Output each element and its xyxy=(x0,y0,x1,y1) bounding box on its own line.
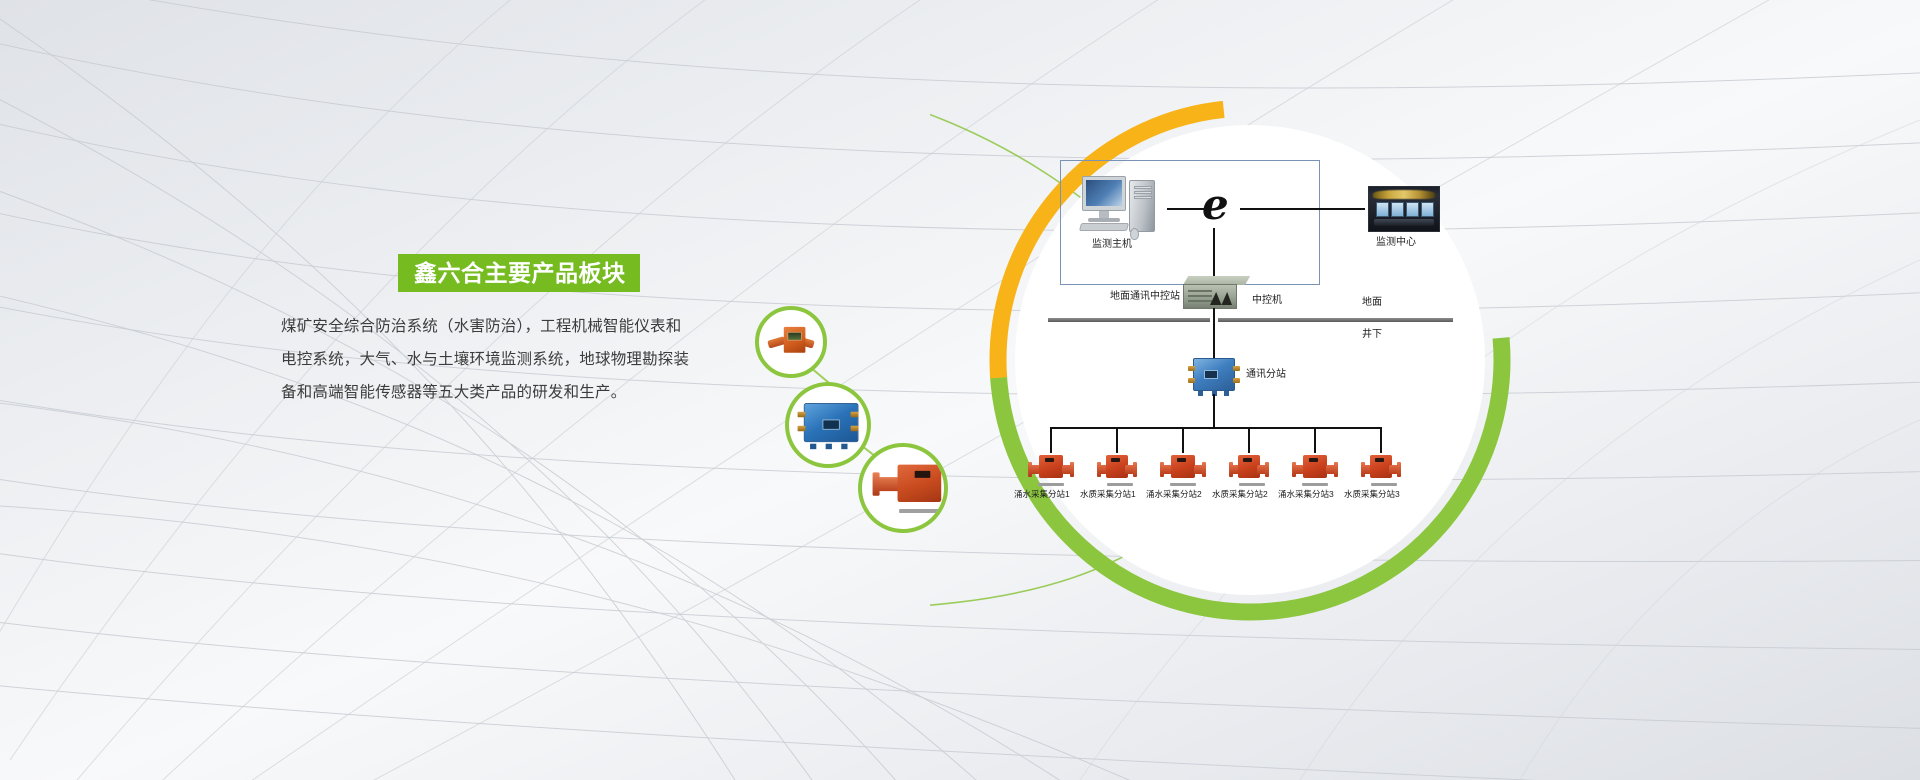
substation-bus xyxy=(1050,427,1380,429)
substation-device-1 xyxy=(1028,452,1074,486)
comm-substation-label: 通讯分站 xyxy=(1246,370,1286,380)
central-control-label: 中控机 xyxy=(1252,296,1282,306)
underground-label: 井下 xyxy=(1362,330,1382,340)
body-line-3: 备和高端智能传感器等五大类产品的研发和生产。 xyxy=(281,376,711,409)
ground-divider-right xyxy=(1218,318,1453,322)
substation-device-4 xyxy=(1229,452,1269,486)
substation-device-5 xyxy=(1292,452,1338,486)
link-internet-to-control xyxy=(1213,228,1215,278)
drop-line-2 xyxy=(1116,427,1118,453)
monitor-center-label: 监测中心 xyxy=(1376,238,1416,248)
banner-stage: 鑫六合主要产品板块 煤矿安全综合防治系统（水害防治），工程机械智能仪表和 电控系… xyxy=(0,0,1920,780)
substation-label-6: 水质采集分站3 xyxy=(1344,490,1400,499)
substation-device-6 xyxy=(1361,452,1401,486)
product-bubble-blue[interactable] xyxy=(785,382,871,468)
drop-line-1 xyxy=(1050,427,1052,453)
internet-icon: e xyxy=(1202,184,1227,226)
drop-line-6 xyxy=(1380,427,1382,453)
product-overview-card: 鑫六合主要产品板块 煤矿安全综合防治系统（水害防治），工程机械智能仪表和 电控系… xyxy=(248,224,592,440)
body-line-2: 电控系统，大气、水与土壤环境监测系统，地球物理勘探装 xyxy=(281,343,711,376)
system-diagram-circle: 监测主机 e 监测中心 xyxy=(930,50,1670,740)
card-title-banner: 鑫六合主要产品板块 xyxy=(398,254,640,292)
link-internet-to-center xyxy=(1240,208,1365,210)
monitor-host-label: 监测主机 xyxy=(1092,240,1132,250)
ground-divider-left xyxy=(1048,318,1210,322)
substation-label-5: 涌水采集分站3 xyxy=(1278,490,1334,499)
comm-substation-icon xyxy=(1188,356,1240,396)
substation-label-1: 涌水采集分站1 xyxy=(1014,490,1070,499)
monitor-center-photo xyxy=(1368,186,1440,232)
red-flow-device-photo xyxy=(871,463,935,513)
product-bubble-orange[interactable] xyxy=(755,306,827,378)
drop-line-4 xyxy=(1248,427,1250,453)
drop-line-5 xyxy=(1314,427,1316,453)
substation-label-2: 水质采集分站1 xyxy=(1080,490,1136,499)
page-title: 鑫六合主要产品板块 xyxy=(414,262,626,285)
body-line-1: 煤矿安全综合防治系统（水害防治），工程机械智能仪表和 xyxy=(281,310,711,343)
central-control-machine-icon xyxy=(1183,276,1245,310)
substation-label-4: 水质采集分站2 xyxy=(1212,490,1268,499)
ground-label: 地面 xyxy=(1362,298,1382,308)
product-bubble-red[interactable] xyxy=(858,443,948,533)
substation-device-2 xyxy=(1097,452,1137,486)
ground-station-label: 地面通讯中控站 xyxy=(1110,292,1180,302)
drop-line-3 xyxy=(1182,427,1184,453)
link-host-to-internet xyxy=(1167,208,1205,210)
monitor-host-icon xyxy=(1082,176,1162,236)
substation-label-3: 涌水采集分站2 xyxy=(1146,490,1202,499)
link-control-to-substation xyxy=(1213,308,1215,358)
link-substation-trunk xyxy=(1213,394,1215,428)
card-body-text: 煤矿安全综合防治系统（水害防治），工程机械智能仪表和 电控系统，大气、水与土壤环… xyxy=(281,310,711,409)
schematic-diagram: 监测主机 e 监测中心 xyxy=(930,50,1670,740)
orange-instrument-photo xyxy=(768,327,814,357)
blue-junction-box-photo xyxy=(798,401,859,449)
substation-device-3 xyxy=(1160,452,1206,486)
